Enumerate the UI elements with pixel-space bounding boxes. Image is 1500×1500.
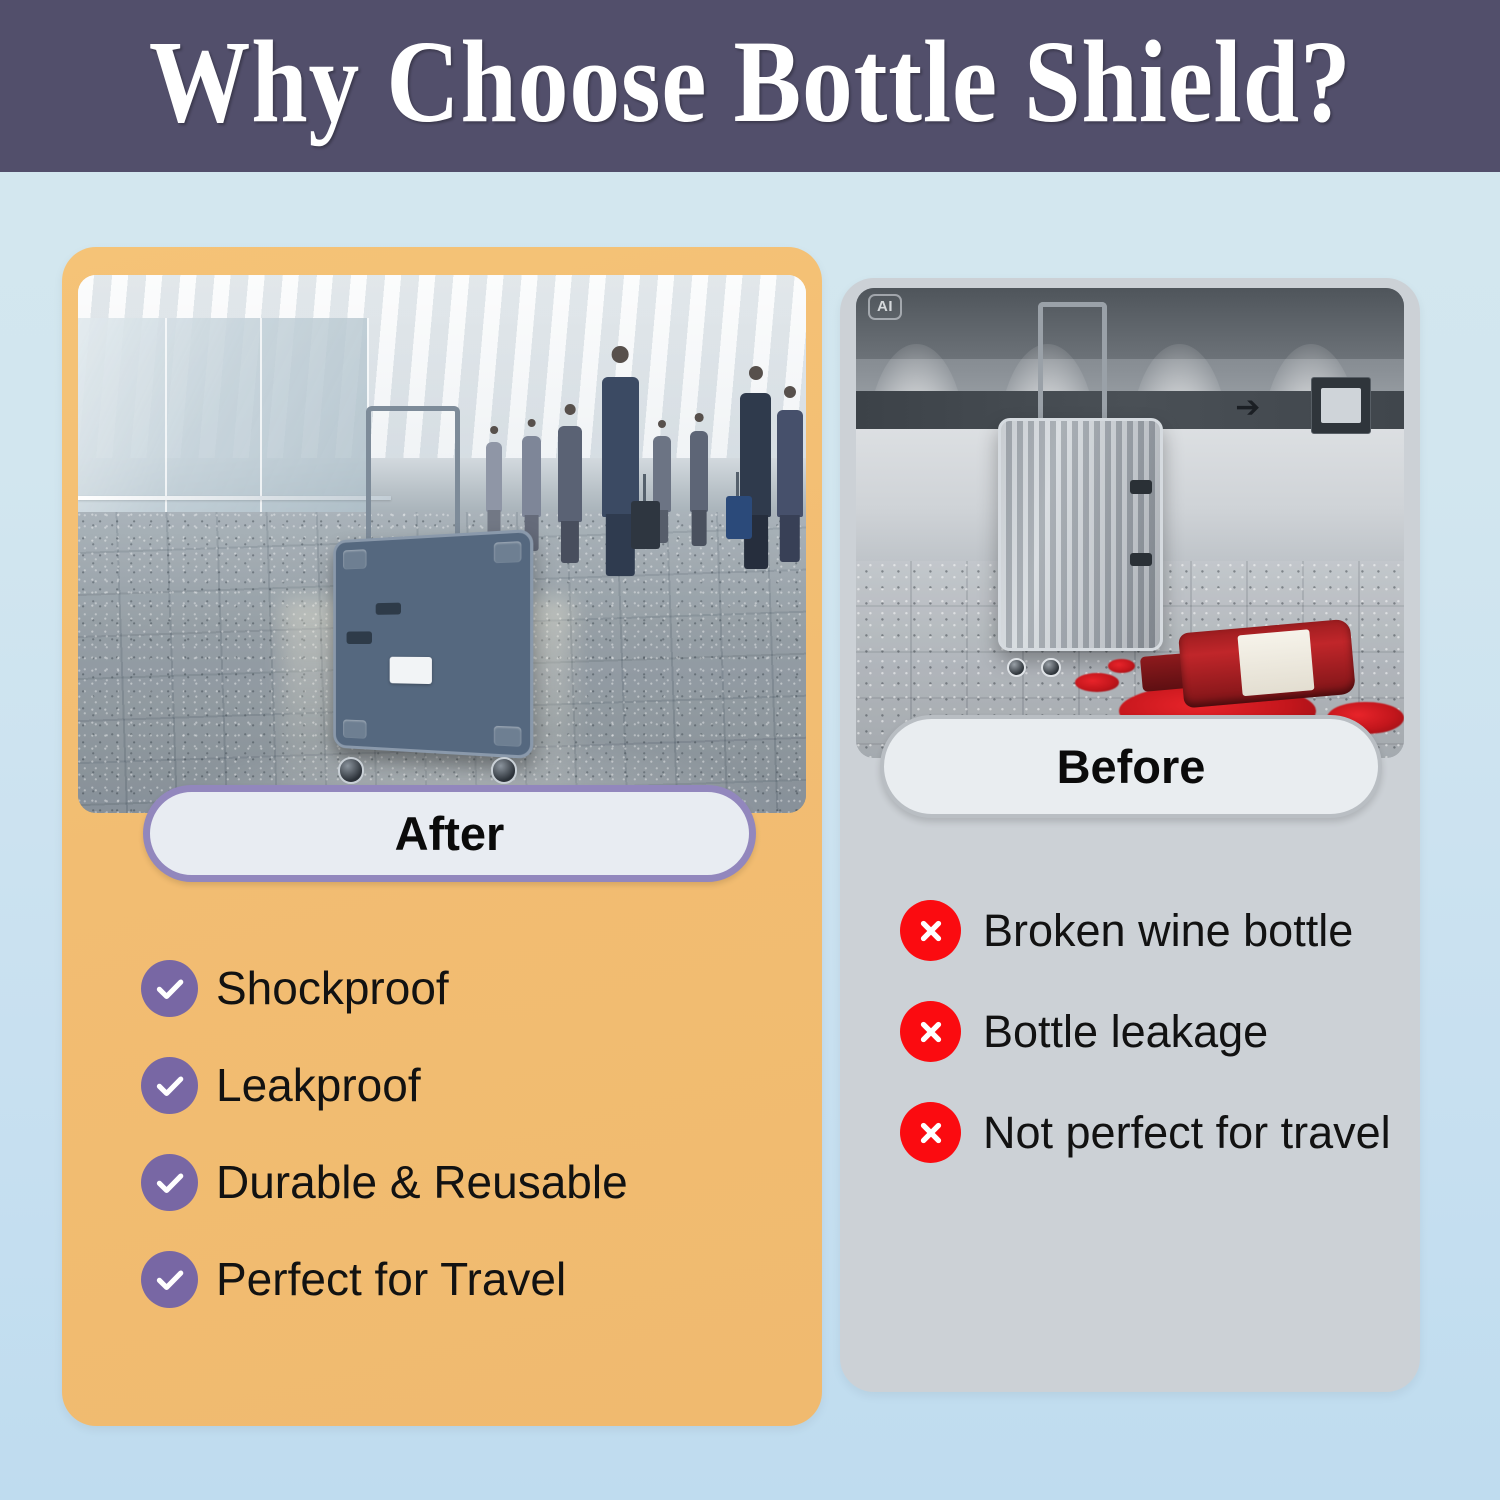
bottle-label bbox=[1237, 629, 1314, 697]
check-icon bbox=[141, 1057, 198, 1114]
suitcase-after bbox=[326, 490, 530, 770]
traveller-silhouette bbox=[690, 431, 709, 512]
suitcase-corner bbox=[494, 725, 521, 746]
drawback-label: Bottle leakage bbox=[983, 1007, 1268, 1057]
luggage-tag bbox=[390, 657, 432, 685]
arrow-icon: ➔ bbox=[1212, 387, 1283, 429]
drawback-label: Not perfect for travel bbox=[983, 1108, 1391, 1158]
suitcase-corner bbox=[342, 719, 365, 738]
after-label-badge: After bbox=[143, 785, 756, 882]
suitcase-latch bbox=[1130, 553, 1152, 567]
suitcase-corner bbox=[494, 542, 521, 563]
check-icon bbox=[141, 960, 198, 1017]
before-label-badge: Before bbox=[880, 715, 1382, 818]
feature-label: Leakproof bbox=[216, 1060, 421, 1111]
list-item: Perfect for Travel bbox=[141, 1251, 781, 1308]
header-banner: Why Choose Bottle Shield? bbox=[0, 0, 1500, 172]
x-icon bbox=[900, 1001, 961, 1062]
list-item: Durable & Reusable bbox=[141, 1154, 781, 1211]
suitcase-wheel bbox=[338, 757, 364, 783]
before-photo: ➔ bbox=[856, 288, 1404, 758]
suitcase-body bbox=[333, 529, 533, 759]
before-panel-card: ➔ bbox=[840, 278, 1420, 1392]
traveller-silhouette bbox=[558, 426, 581, 523]
airport-scene-after bbox=[78, 275, 806, 813]
rolling-bag bbox=[631, 501, 660, 549]
list-item: Not perfect for travel bbox=[900, 1102, 1410, 1163]
after-photo bbox=[78, 275, 806, 813]
list-item: Shockproof bbox=[141, 960, 781, 1017]
suitcase-latch bbox=[1130, 480, 1152, 494]
suitcase-latch bbox=[375, 602, 401, 615]
suitcase-corner bbox=[342, 550, 365, 569]
airport-scene-before: ➔ bbox=[856, 288, 1404, 758]
feature-label: Durable & Reusable bbox=[216, 1157, 628, 1208]
before-label-text: Before bbox=[1057, 739, 1206, 794]
traveller-silhouette bbox=[777, 410, 803, 518]
suitcase-handle bbox=[366, 406, 460, 546]
list-item: Leakproof bbox=[141, 1057, 781, 1114]
infographic-page: Why Choose Bottle Shield? bbox=[0, 0, 1500, 1500]
suitcase-before bbox=[998, 377, 1162, 668]
check-icon bbox=[141, 1154, 198, 1211]
suitcase-handle bbox=[1038, 302, 1107, 430]
x-icon bbox=[900, 900, 961, 961]
suitcase-body bbox=[998, 418, 1162, 651]
rolling-bag bbox=[726, 496, 752, 539]
ai-watermark: AI bbox=[868, 294, 902, 320]
suitcase-wheel bbox=[1041, 658, 1061, 678]
x-icon bbox=[900, 1102, 961, 1163]
list-item: Broken wine bottle bbox=[900, 900, 1410, 961]
before-feature-list: Broken wine bottle Bottle leakage Not pe… bbox=[900, 900, 1410, 1163]
suitcase-latch bbox=[346, 632, 371, 644]
drawback-label: Broken wine bottle bbox=[983, 906, 1353, 956]
list-item: Bottle leakage bbox=[900, 1001, 1410, 1062]
page-title: Why Choose Bottle Shield? bbox=[149, 23, 1352, 149]
after-label-text: After bbox=[395, 806, 505, 861]
suitcase-wheel bbox=[491, 757, 517, 783]
traveller-silhouette bbox=[602, 377, 638, 517]
feature-label: Perfect for Travel bbox=[216, 1254, 566, 1305]
bottle-body bbox=[1178, 619, 1355, 709]
wayfinding-sign bbox=[1311, 377, 1371, 433]
check-icon bbox=[141, 1251, 198, 1308]
after-feature-list: Shockproof Leakproof Durable & Reusable … bbox=[141, 960, 781, 1308]
feature-label: Shockproof bbox=[216, 963, 449, 1014]
sign-panel bbox=[1321, 388, 1361, 423]
